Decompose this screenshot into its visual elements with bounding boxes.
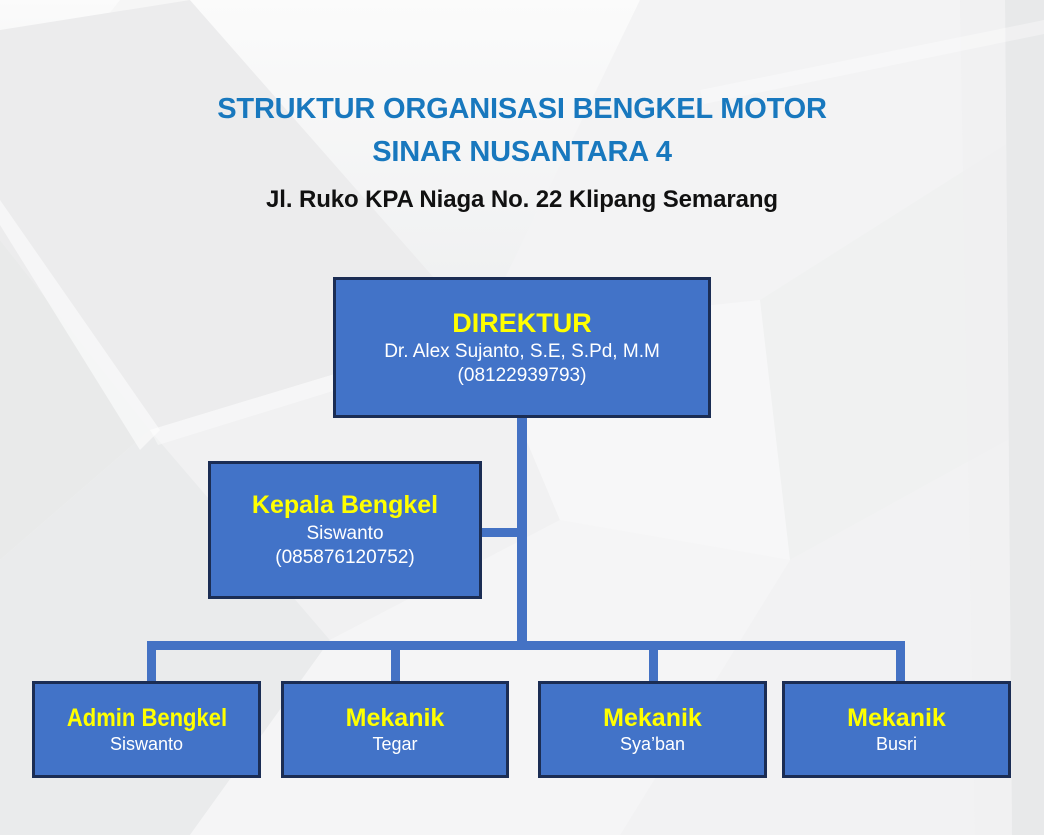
org-node-admin-bengkel[interactable]: Admin Bengkel Siswanto bbox=[32, 681, 261, 778]
connector-drop-3 bbox=[896, 641, 905, 685]
org-node-mekanik-syaban[interactable]: Mekanik Sya’ban bbox=[538, 681, 767, 778]
org-node-kepala-bengkel-name: Siswanto bbox=[306, 522, 383, 545]
org-node-admin-bengkel-role: Admin Bengkel bbox=[66, 704, 226, 732]
org-node-mekanik-syaban-role: Mekanik bbox=[603, 704, 702, 732]
connector-drop-0 bbox=[147, 641, 156, 685]
slide-canvas: STRUKTUR ORGANISASI BENGKEL MOTOR SINAR … bbox=[0, 0, 1044, 835]
org-node-kepala-bengkel-phone: (085876120752) bbox=[275, 546, 414, 569]
org-node-mekanik-tegar[interactable]: Mekanik Tegar bbox=[281, 681, 509, 778]
connector-drop-1 bbox=[391, 641, 400, 685]
connector-drop-2 bbox=[649, 641, 658, 685]
org-node-direktur-name: Dr. Alex Sujanto, S.E, S.Pd, M.M bbox=[384, 340, 660, 363]
connector-bus bbox=[147, 641, 905, 650]
org-node-mekanik-busri[interactable]: Mekanik Busri bbox=[782, 681, 1011, 778]
org-node-kepala-bengkel[interactable]: Kepala Bengkel Siswanto (085876120752) bbox=[208, 461, 482, 599]
org-node-mekanik-busri-name: Busri bbox=[876, 734, 917, 756]
org-node-mekanik-tegar-role: Mekanik bbox=[346, 704, 445, 732]
org-node-direktur-role: DIREKTUR bbox=[452, 308, 592, 338]
org-node-kepala-bengkel-role: Kepala Bengkel bbox=[252, 491, 438, 519]
org-node-mekanik-syaban-name: Sya’ban bbox=[620, 734, 685, 756]
org-node-direktur[interactable]: DIREKTUR Dr. Alex Sujanto, S.E, S.Pd, M.… bbox=[333, 277, 711, 418]
org-node-mekanik-tegar-name: Tegar bbox=[372, 734, 417, 756]
org-node-direktur-phone: (08122939793) bbox=[458, 364, 587, 387]
org-node-admin-bengkel-name: Siswanto bbox=[110, 734, 183, 756]
org-node-mekanik-busri-role: Mekanik bbox=[847, 704, 946, 732]
connector-kepala-stub bbox=[479, 528, 521, 537]
